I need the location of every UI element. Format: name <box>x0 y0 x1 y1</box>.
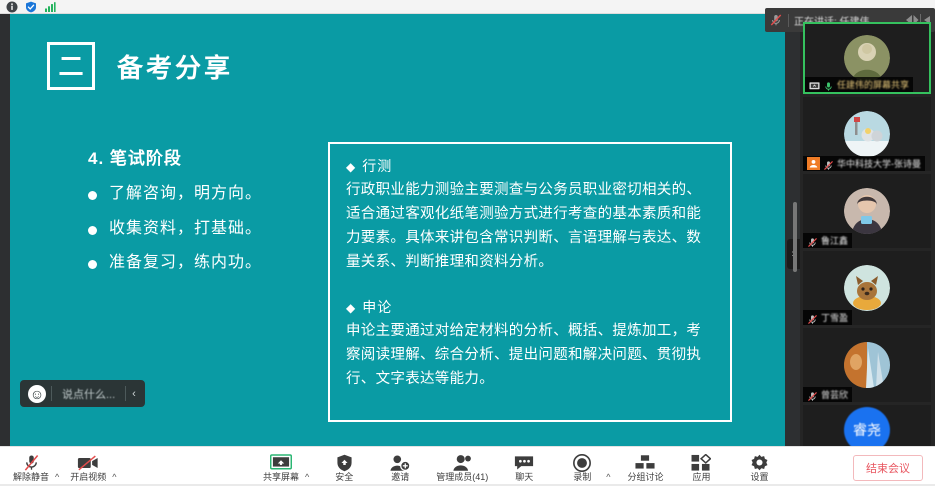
info-icon[interactable] <box>5 0 18 13</box>
participant-name: 曾芸欣 <box>821 388 848 401</box>
screen-share-icon <box>270 453 292 472</box>
end-meeting-button[interactable]: 结束会议 <box>853 455 923 481</box>
share-screen-label: 共享屏幕 <box>263 473 299 482</box>
mic-muted-icon <box>807 312 818 323</box>
mic-muted-icon <box>807 235 818 246</box>
participant-name: 鲁江鑫 <box>821 234 848 247</box>
screen-share-icon <box>809 79 820 90</box>
participant-name-bar: 曾芸欣 <box>803 387 852 402</box>
participant-name: 任建伟的屏幕共享 <box>837 78 909 91</box>
panel-spacer <box>346 275 714 297</box>
participant-tile[interactable]: 鲁江鑫 <box>803 174 931 248</box>
panel-heading-text: 申论 <box>362 299 392 315</box>
gear-icon <box>750 453 769 472</box>
participant-tile[interactable]: 任建伟的屏幕共享 <box>803 22 931 94</box>
security-shield-icon <box>336 453 353 472</box>
bullet-dot-icon <box>88 260 97 269</box>
apps-icon <box>691 453 711 472</box>
host-badge-icon <box>807 157 820 170</box>
mute-label: 解除静音 <box>13 473 49 482</box>
rail-scrollbar[interactable] <box>792 32 798 446</box>
breakout-rooms-icon <box>635 453 655 472</box>
participant-tile[interactable]: 曾芸欣 <box>803 328 931 402</box>
mute-button[interactable]: 解除静音 <box>8 447 54 486</box>
emoji-icon[interactable]: ☺ <box>28 385 46 403</box>
slide-section-number: 二 <box>47 42 95 90</box>
presentation-slide: 二 备考分享 4. 笔试阶段 了解咨询，明方向。 收集资料，打基础。 准备复习，… <box>10 14 785 446</box>
toolbar-center-group: 共享屏幕 ^ 安全 邀请 管理成员(41) <box>258 447 782 486</box>
participant-name: 丁雪盈 <box>821 311 848 324</box>
bullet-dot-icon <box>88 226 97 235</box>
invite-user-icon <box>390 453 410 472</box>
slide-left-heading: 4. 笔试阶段 <box>88 144 313 169</box>
security-button[interactable]: 安全 <box>321 447 367 486</box>
mic-muted-icon <box>807 389 818 400</box>
slide-detail-panel: ◆行测 行政职业能力测验主要测查与公务员职业密切相关的、适合通过客观化纸笔测验方… <box>328 142 732 422</box>
participant-name-bar: 丁雪盈 <box>803 310 852 325</box>
bullet-dot-icon <box>88 191 97 200</box>
apps-label: 应用 <box>692 473 710 482</box>
invite-label: 邀请 <box>391 473 409 482</box>
mic-muted-icon <box>823 158 834 169</box>
participant-name: 华中科技大学-张诗曼 <box>837 157 921 170</box>
participant-name-bar: 任建伟的屏幕共享 <box>805 77 913 92</box>
breakout-rooms-label: 分组讨论 <box>627 473 663 482</box>
manage-participants-label: 管理成员(41) <box>436 473 488 482</box>
record-button[interactable]: 录制 <box>559 447 605 486</box>
chat-bubble-icon <box>514 453 534 472</box>
diamond-bullet-icon: ◆ <box>346 160 356 174</box>
participants-icon <box>452 453 472 472</box>
bullet-text: 了解咨询，明方向。 <box>109 185 262 203</box>
bullet-text: 准备复习，练内功。 <box>109 254 262 272</box>
apps-button[interactable]: 应用 <box>678 447 724 486</box>
participant-tile[interactable]: 丁雪盈 <box>803 251 931 325</box>
panel-heading-text: 行测 <box>362 158 392 174</box>
avatar <box>844 188 890 234</box>
breakout-rooms-button[interactable]: 分组讨论 <box>622 447 668 486</box>
participant-name-bar: 华中科技大学-张诗曼 <box>803 156 925 171</box>
diamond-bullet-icon: ◆ <box>346 301 356 315</box>
video-button[interactable]: 开启视频 <box>65 447 111 486</box>
manage-participants-button[interactable]: 管理成员(41) <box>433 447 491 486</box>
panel-block-body: 申论主要通过对给定材料的分析、概括、提炼加工，考察阅读理解、综合分析、提出问题和… <box>346 320 714 392</box>
record-label: 录制 <box>573 473 591 482</box>
chat-input-placeholder[interactable]: 说点什么... <box>52 386 125 402</box>
participant-tiles: 任建伟的屏幕共享 华中科技大学-张诗曼 <box>803 30 933 458</box>
signal-bars-icon[interactable] <box>43 0 56 13</box>
slide-header: 二 备考分享 <box>47 42 233 90</box>
slide-bullet: 准备复习，练内功。 <box>88 254 313 272</box>
video-label: 开启视频 <box>70 473 106 482</box>
avatar <box>844 265 890 311</box>
slide-bullet: 了解咨询，明方向。 <box>88 185 313 203</box>
slide-left-column: 4. 笔试阶段 了解咨询，明方向。 收集资料，打基础。 准备复习，练内功。 <box>88 144 313 289</box>
shared-screen-stage: 二 备考分享 4. 笔试阶段 了解咨询，明方向。 收集资料，打基础。 准备复习，… <box>0 14 800 446</box>
participant-name-bar: 鲁江鑫 <box>803 233 852 248</box>
mic-on-icon <box>823 79 834 90</box>
avatar <box>844 342 890 388</box>
video-off-icon <box>77 453 99 472</box>
panel-block-heading: ◆申论 <box>346 297 714 317</box>
participant-tile[interactable]: 华中科技大学-张诗曼 <box>803 97 931 171</box>
chat-collapse-chevron-icon[interactable]: ‹ <box>126 388 142 400</box>
mic-muted-icon <box>769 13 783 27</box>
share-screen-button[interactable]: 共享屏幕 <box>258 447 304 486</box>
mic-muted-icon <box>23 453 40 472</box>
panel-block-body: 行政职业能力测验主要测查与公务员职业密切相关的、适合通过客观化纸笔测验方式进行考… <box>346 179 714 275</box>
meeting-chat-input-bar[interactable]: ☺ 说点什么... ‹ <box>20 380 145 407</box>
record-icon <box>573 453 591 472</box>
panel-block-heading: ◆行测 <box>346 156 714 176</box>
chat-button[interactable]: 聊天 <box>501 447 547 486</box>
toolbar-left-group: 解除静音 ^ 开启视频 ^ <box>8 447 116 486</box>
settings-button[interactable]: 设置 <box>736 447 782 486</box>
meeting-toolbar: 解除静音 ^ 开启视频 ^ 共享屏幕 ^ <box>0 446 935 486</box>
rail-scrollbar-thumb[interactable] <box>793 202 797 272</box>
bullet-text: 收集资料，打基础。 <box>109 220 262 238</box>
chat-label: 聊天 <box>515 473 533 482</box>
zoom-meeting-window: 二 备考分享 4. 笔试阶段 了解咨询，明方向。 收集资料，打基础。 准备复习，… <box>0 0 935 486</box>
settings-label: 设置 <box>750 473 768 482</box>
avatar <box>844 35 890 81</box>
avatar <box>844 111 890 157</box>
shield-icon[interactable] <box>24 0 37 13</box>
invite-button[interactable]: 邀请 <box>377 447 423 486</box>
security-label: 安全 <box>335 473 353 482</box>
divider <box>788 14 789 27</box>
slide-bullet: 收集资料，打基础。 <box>88 220 313 238</box>
participant-rail: 正在讲话: 任建伟 任建伟的屏 <box>800 14 935 446</box>
slide-title: 备考分享 <box>117 48 233 85</box>
